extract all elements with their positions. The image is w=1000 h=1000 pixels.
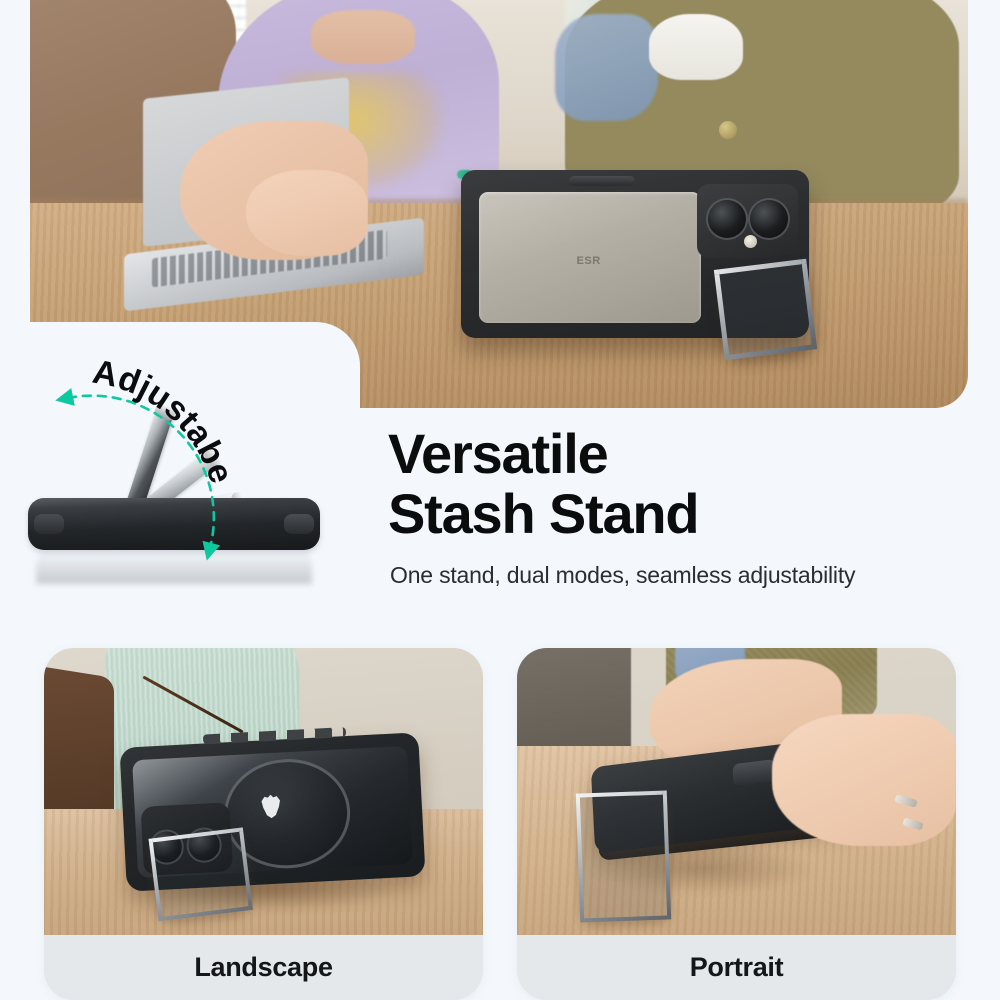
portrait-photo	[517, 648, 956, 935]
landscape-photo	[44, 648, 483, 935]
hero-ring-kickstand	[714, 259, 818, 360]
hero-phone-speaker-grille	[569, 176, 635, 186]
esr-brand-logo: ESR	[577, 255, 601, 267]
portrait-hand	[772, 714, 956, 846]
hero-phone-back-panel: ESR	[479, 192, 701, 323]
adjustable-arc-svg	[10, 352, 390, 602]
hero-phone-with-case: ESR	[461, 170, 808, 338]
headline-line-1: Versatile	[388, 422, 608, 485]
portrait-ring-kickstand	[576, 790, 672, 922]
landscape-caption-label: Landscape	[194, 952, 332, 983]
portrait-power-button	[732, 759, 776, 787]
product-feature-page: ESR	[0, 0, 1000, 1000]
landscape-caption-bar: Landscape	[44, 935, 483, 1000]
landscape-phone	[119, 732, 425, 891]
hero-person-left-neck	[311, 10, 414, 63]
headline-block: Versatile Stash Stand One stand, dual mo…	[388, 424, 988, 591]
hero-camera-module	[697, 184, 798, 258]
page-subtitle: One stand, dual modes, seamless adjustab…	[390, 561, 988, 591]
headline-line-2: Stash Stand	[388, 482, 698, 545]
portrait-caption-label: Portrait	[690, 952, 784, 983]
portrait-caption-bar: Portrait	[517, 935, 956, 1000]
page-title: Versatile Stash Stand	[388, 424, 988, 545]
hero-camera-flash	[744, 235, 757, 248]
landscape-ring-kickstand	[148, 827, 252, 921]
adjustable-stand-illustration: Adjustabe	[10, 352, 390, 602]
adjustable-dashed-arc	[68, 396, 214, 548]
mode-cards: Landscape	[44, 648, 956, 1000]
card-portrait[interactable]: Portrait	[517, 648, 956, 1000]
hero-camera-lens-1	[708, 200, 746, 238]
hero-camera-lens-2	[750, 200, 788, 238]
hero-person-right-scarf	[555, 14, 658, 121]
hero-hand-left	[246, 170, 368, 256]
hero-person-right-shirt	[649, 14, 743, 80]
card-landscape[interactable]: Landscape	[44, 648, 483, 1000]
